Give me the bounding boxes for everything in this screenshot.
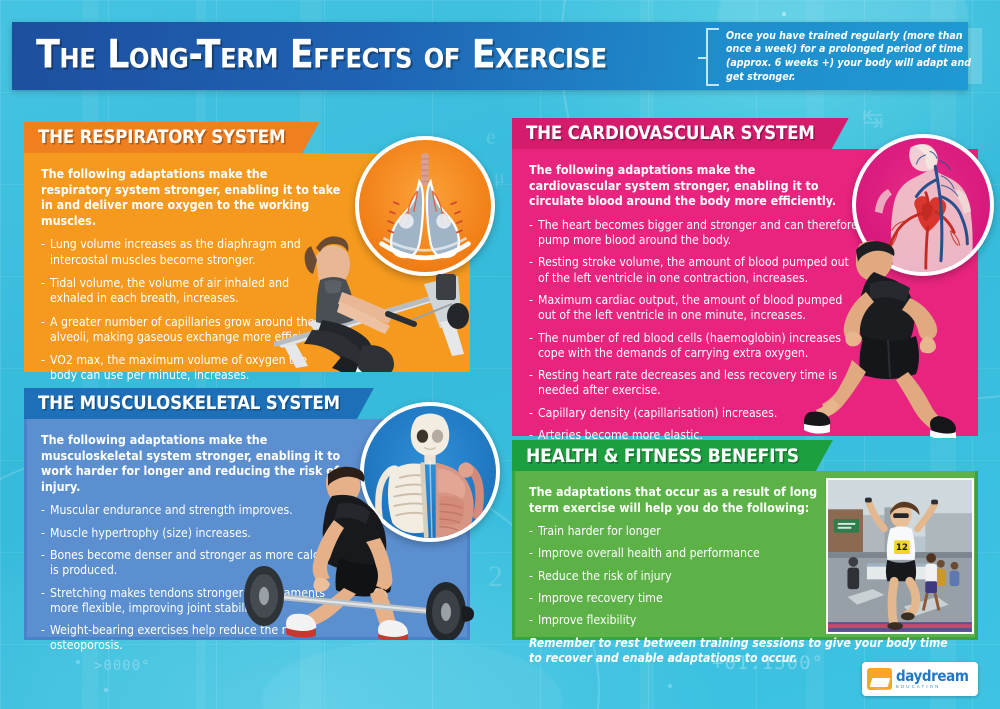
lungs-icon <box>359 140 491 272</box>
header-note-block: Once you have trained regularly (more th… <box>706 27 974 87</box>
list-item: Train harder for longer <box>529 524 829 539</box>
list-item: Bones become denser and stronger as more… <box>41 548 341 579</box>
skeleton-muscle-icon <box>364 406 496 538</box>
circle-image-skeleton-muscle-diagram <box>360 402 500 542</box>
list-item: Weight-bearing exercises help reduce the… <box>41 623 341 654</box>
list-item: Resting stroke volume, the amount of blo… <box>529 255 859 286</box>
list-item: VO2 max, the maximum volume of oxygen th… <box>41 353 333 384</box>
list-item: Muscular endurance and strength improves… <box>41 503 341 518</box>
poster-canvas: ↹ H ∞ σ e μ n 2 >0000° +01.1500° The Lon… <box>0 0 1000 709</box>
background-dot <box>76 660 80 664</box>
panel-intro-musculoskeletal: The following adaptations make the muscu… <box>41 432 347 494</box>
list-item: Maximum cardiac output, the amount of bl… <box>529 293 859 324</box>
copyright-text: ©Daydream Education 2016. All Rights Res… <box>862 688 978 692</box>
background-science-symbol: μ <box>494 166 505 189</box>
background-dot <box>782 12 786 16</box>
panel-title-health: HEALTH & FITNESS BENEFITS <box>512 440 833 471</box>
list-item: Capillary density (capillarisation) incr… <box>529 406 859 421</box>
list-item: Lung volume increases as the diaphragm a… <box>41 237 333 268</box>
list-item: Improve overall health and performance <box>529 546 829 561</box>
panel-intro-respiratory: The following adaptations make the respi… <box>41 166 341 228</box>
panel-intro-cardiovascular: The following adaptations make the cardi… <box>529 162 847 209</box>
photo-female-runner-finish-line: 12 <box>826 478 974 634</box>
circulatory-system-icon <box>856 138 990 272</box>
daydream-logo-mark-icon <box>867 668 892 690</box>
list-item: Muscle hypertrophy (size) increases. <box>41 526 341 541</box>
panel-title-respiratory: THE RESPIRATORY SYSTEM <box>24 122 319 153</box>
panel-title-musculoskeletal: THE MUSCULOSKELETAL SYSTEM <box>24 388 374 419</box>
header-note-text: Once you have trained regularly (more th… <box>719 30 974 84</box>
background-reading-left: >0000° <box>94 658 151 674</box>
list-item: Resting heart rate decreases and less re… <box>529 368 859 399</box>
panel-title-cardiovascular: THE CARDIOVASCULAR SYSTEM <box>512 118 849 149</box>
page-title: The Long-Term Effects of Exercise <box>36 33 607 78</box>
list-item: A greater number of capillaries grow aro… <box>41 315 333 346</box>
list-item: Stretching makes tendons stronger and li… <box>41 586 341 617</box>
background-dot <box>668 684 672 688</box>
bib-number: 12 <box>896 543 908 553</box>
list-item: Reduce the risk of injury <box>529 569 829 584</box>
circle-image-lungs-diagram <box>355 136 495 276</box>
background-science-symbol: 2 <box>488 560 503 594</box>
list-item: Improve recovery time <box>529 591 829 606</box>
list-item: Tidal volume, the volume of air inhaled … <box>41 276 333 307</box>
list-item: The number of red blood cells (haemoglob… <box>529 331 859 362</box>
circle-image-circulatory-system <box>852 134 994 276</box>
background-dot <box>104 688 108 692</box>
logo-name: daydream <box>896 669 969 684</box>
logo-text-wrapper: daydream EDUCATION <box>896 669 969 689</box>
list-item: Improve flexibility <box>529 613 829 628</box>
panel-intro-health: The adaptations that occur as a result o… <box>529 484 835 515</box>
list-item: The heart becomes bigger and stronger an… <box>529 218 859 249</box>
bracket-decoration <box>706 28 719 86</box>
